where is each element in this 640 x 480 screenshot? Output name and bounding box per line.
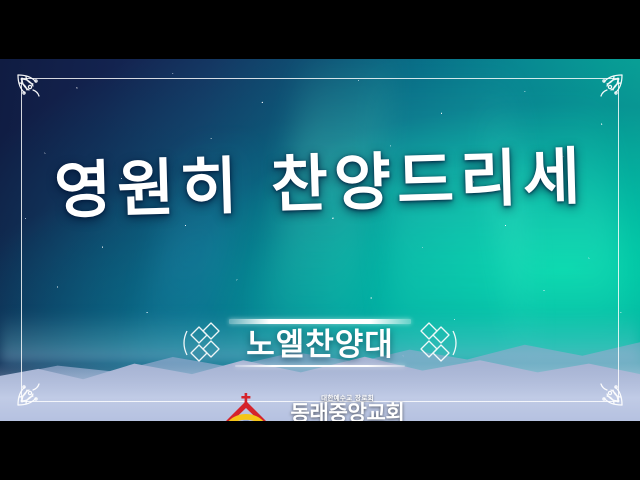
diamond-cascade-ornament-icon [181, 317, 223, 369]
banner-bottom-bar [235, 365, 405, 367]
slide-subtitle: 노엘찬양대 [246, 329, 394, 362]
slide-canvas: 영원히 찬양드리세 노엘찬양대 [0, 0, 640, 480]
church-name-korean: 동래중앙교회 [290, 403, 404, 422]
video-frame: 영원히 찬양드리세 노엘찬양대 [0, 59, 640, 421]
letterbox-bar-bottom [0, 421, 640, 480]
church-logo-text: 대한예수교 장로회 동래중앙교회 Dongnae Central Presbyt… [277, 395, 418, 421]
subtitle-banner: 노엘찬양대 [0, 311, 640, 375]
letterbox-bar-top [0, 0, 640, 59]
banner-top-bar [229, 319, 411, 324]
diamond-cascade-ornament-icon [417, 317, 459, 369]
church-logo: 대한예수교 장로회 동래중앙교회 Dongnae Central Presbyt… [0, 392, 640, 421]
slide-title: 영원히 찬양드리세 [0, 124, 640, 232]
subtitle-banner-core: 노엘찬양대 [229, 319, 411, 368]
church-roof-cross-logo-icon [222, 392, 270, 421]
